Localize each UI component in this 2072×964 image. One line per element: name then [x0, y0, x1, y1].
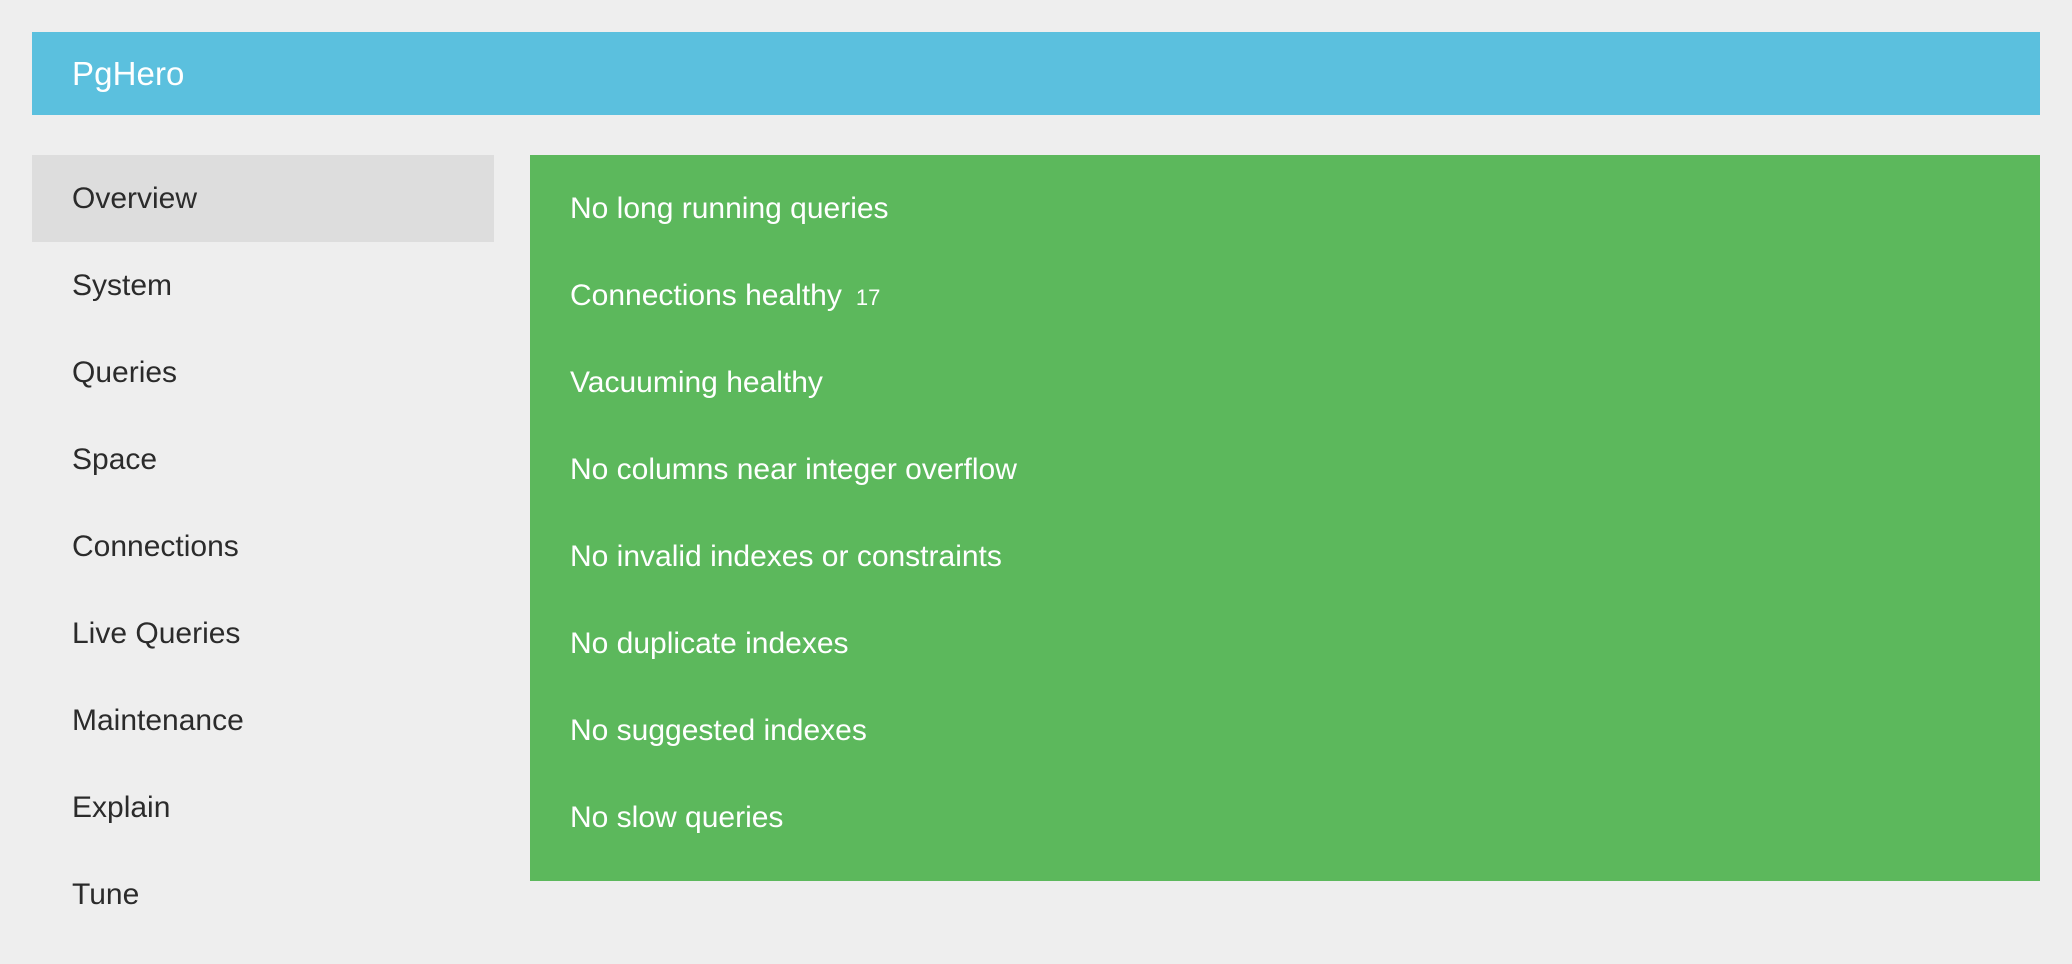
status-label: No slow queries	[570, 801, 783, 834]
status-row[interactable]: No columns near integer overflow	[530, 426, 2040, 513]
sidebar-item-queries[interactable]: Queries	[32, 329, 494, 416]
sidebar-item-tune[interactable]: Tune	[32, 851, 494, 938]
status-row[interactable]: No long running queries	[530, 165, 2040, 252]
sidebar-item-live-queries[interactable]: Live Queries	[32, 590, 494, 677]
sidebar-item-space[interactable]: Space	[32, 416, 494, 503]
status-label: No invalid indexes or constraints	[570, 540, 1002, 573]
status-row[interactable]: No duplicate indexes	[530, 600, 2040, 687]
status-label: Vacuuming healthy	[570, 366, 823, 399]
sidebar-item-explain[interactable]: Explain	[32, 764, 494, 851]
app-root: PgHero Overview System Queries Space Con…	[0, 0, 2072, 964]
status-label: No long running queries	[570, 192, 889, 225]
status-row[interactable]: No invalid indexes or constraints	[530, 513, 2040, 600]
sidebar-item-maintenance[interactable]: Maintenance	[32, 677, 494, 764]
status-label: No duplicate indexes	[570, 627, 849, 660]
sidebar-item-system[interactable]: System	[32, 242, 494, 329]
brand-link[interactable]: PgHero	[72, 57, 185, 90]
status-label: No suggested indexes	[570, 714, 867, 747]
top-navbar: PgHero	[32, 32, 2040, 115]
status-row[interactable]: No slow queries	[530, 774, 2040, 861]
status-count: 17	[856, 285, 880, 310]
sidebar-nav: Overview System Queries Space Connection…	[32, 155, 494, 938]
status-label: Connections healthy	[570, 279, 842, 312]
status-panel: No long running queries Connections heal…	[530, 155, 2040, 881]
main-content: Overview System Queries Space Connection…	[32, 155, 2040, 915]
sidebar-item-overview[interactable]: Overview	[32, 155, 494, 242]
status-label: No columns near integer overflow	[570, 453, 1017, 486]
sidebar-item-connections[interactable]: Connections	[32, 503, 494, 590]
status-row[interactable]: Vacuuming healthy	[530, 339, 2040, 426]
status-row[interactable]: Connections healthy17	[530, 252, 2040, 339]
status-row[interactable]: No suggested indexes	[530, 687, 2040, 774]
